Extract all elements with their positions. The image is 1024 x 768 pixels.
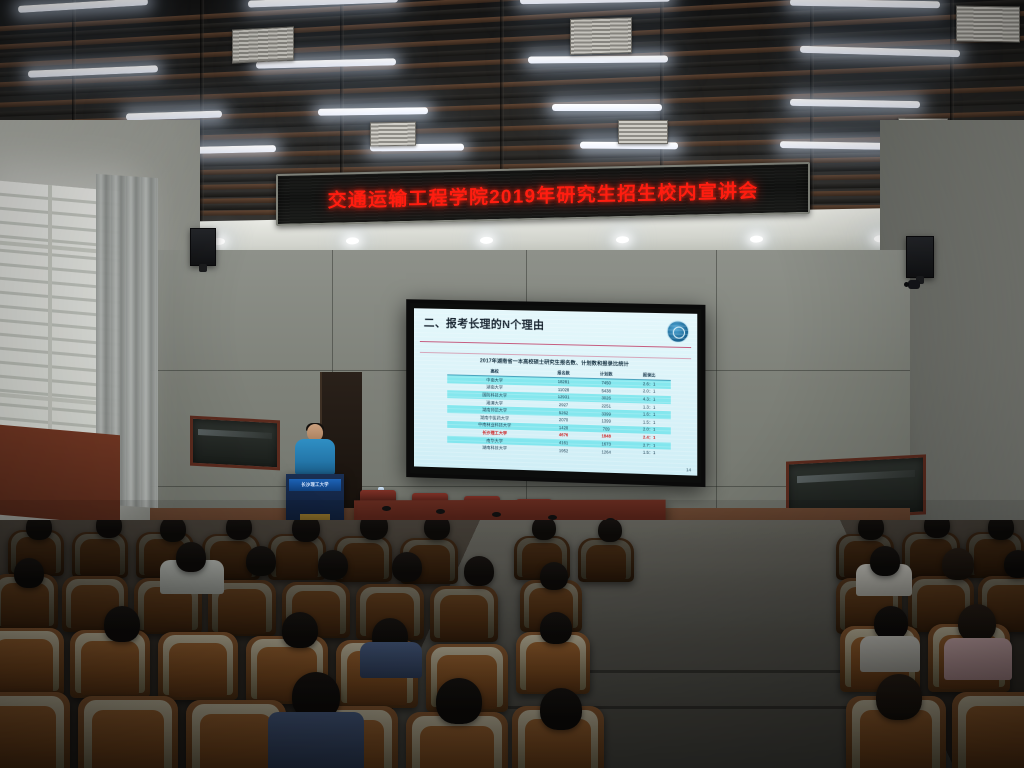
presentation-slide: 二、报考长理的N个理由 2017年湖南省一本高校硕士研究生报名数、计划数和报录比…	[414, 308, 697, 475]
downlight	[750, 236, 763, 243]
slide-page-number: 14	[686, 467, 691, 472]
hvac-vent	[232, 26, 294, 63]
audience-seating	[0, 520, 1024, 768]
wall-speaker-left	[190, 228, 216, 266]
ceiling-camera	[908, 280, 920, 289]
ceiling-light-tube	[528, 56, 668, 64]
led-banner-text: 交通运输工程学院2019年研究生招生校内宣讲会	[328, 176, 759, 213]
stats-table: 高校报名数计划数报录比 中南大学1828174502.6：1湖南大学110285…	[447, 366, 671, 457]
slide-title: 二、报考长理的N个理由	[424, 314, 545, 332]
presenter	[293, 424, 337, 480]
hvac-vent	[956, 5, 1020, 42]
podium-nameplate: 长沙理工大学	[289, 479, 341, 491]
ceiling-light-tube	[552, 104, 662, 111]
lecture-hall-photo: 交通运输工程学院2019年研究生招生校内宣讲会 二、报考长理的N个理由 2017…	[0, 0, 1024, 768]
microphone	[492, 512, 501, 517]
wall-speaker-right	[906, 236, 934, 278]
hvac-vent	[370, 122, 416, 147]
hvac-vent	[570, 17, 632, 55]
projection-screen: 二、报考长理的N个理由 2017年湖南省一本高校硕士研究生报名数、计划数和报录比…	[406, 299, 705, 487]
university-seal-icon	[667, 320, 689, 343]
ceiling-light-tube	[18, 0, 148, 13]
ceiling-light-tube	[318, 107, 428, 116]
downlight	[616, 236, 629, 243]
downlight	[346, 237, 359, 244]
window-sill-panel	[0, 425, 120, 525]
table-cell: 1264	[585, 447, 628, 456]
microphone	[382, 506, 391, 511]
table-cell: 1.5：1	[628, 449, 671, 458]
hvac-vent	[618, 120, 668, 144]
microphone	[436, 509, 445, 514]
downlight	[480, 237, 493, 244]
podium-nameplate-text: 长沙理工大学	[301, 482, 329, 488]
table-cell: 1952	[542, 446, 584, 455]
presenter-torso	[295, 439, 335, 475]
projection-booth-window-left	[190, 416, 280, 471]
table-cell: 湖南科技大学	[447, 443, 542, 454]
